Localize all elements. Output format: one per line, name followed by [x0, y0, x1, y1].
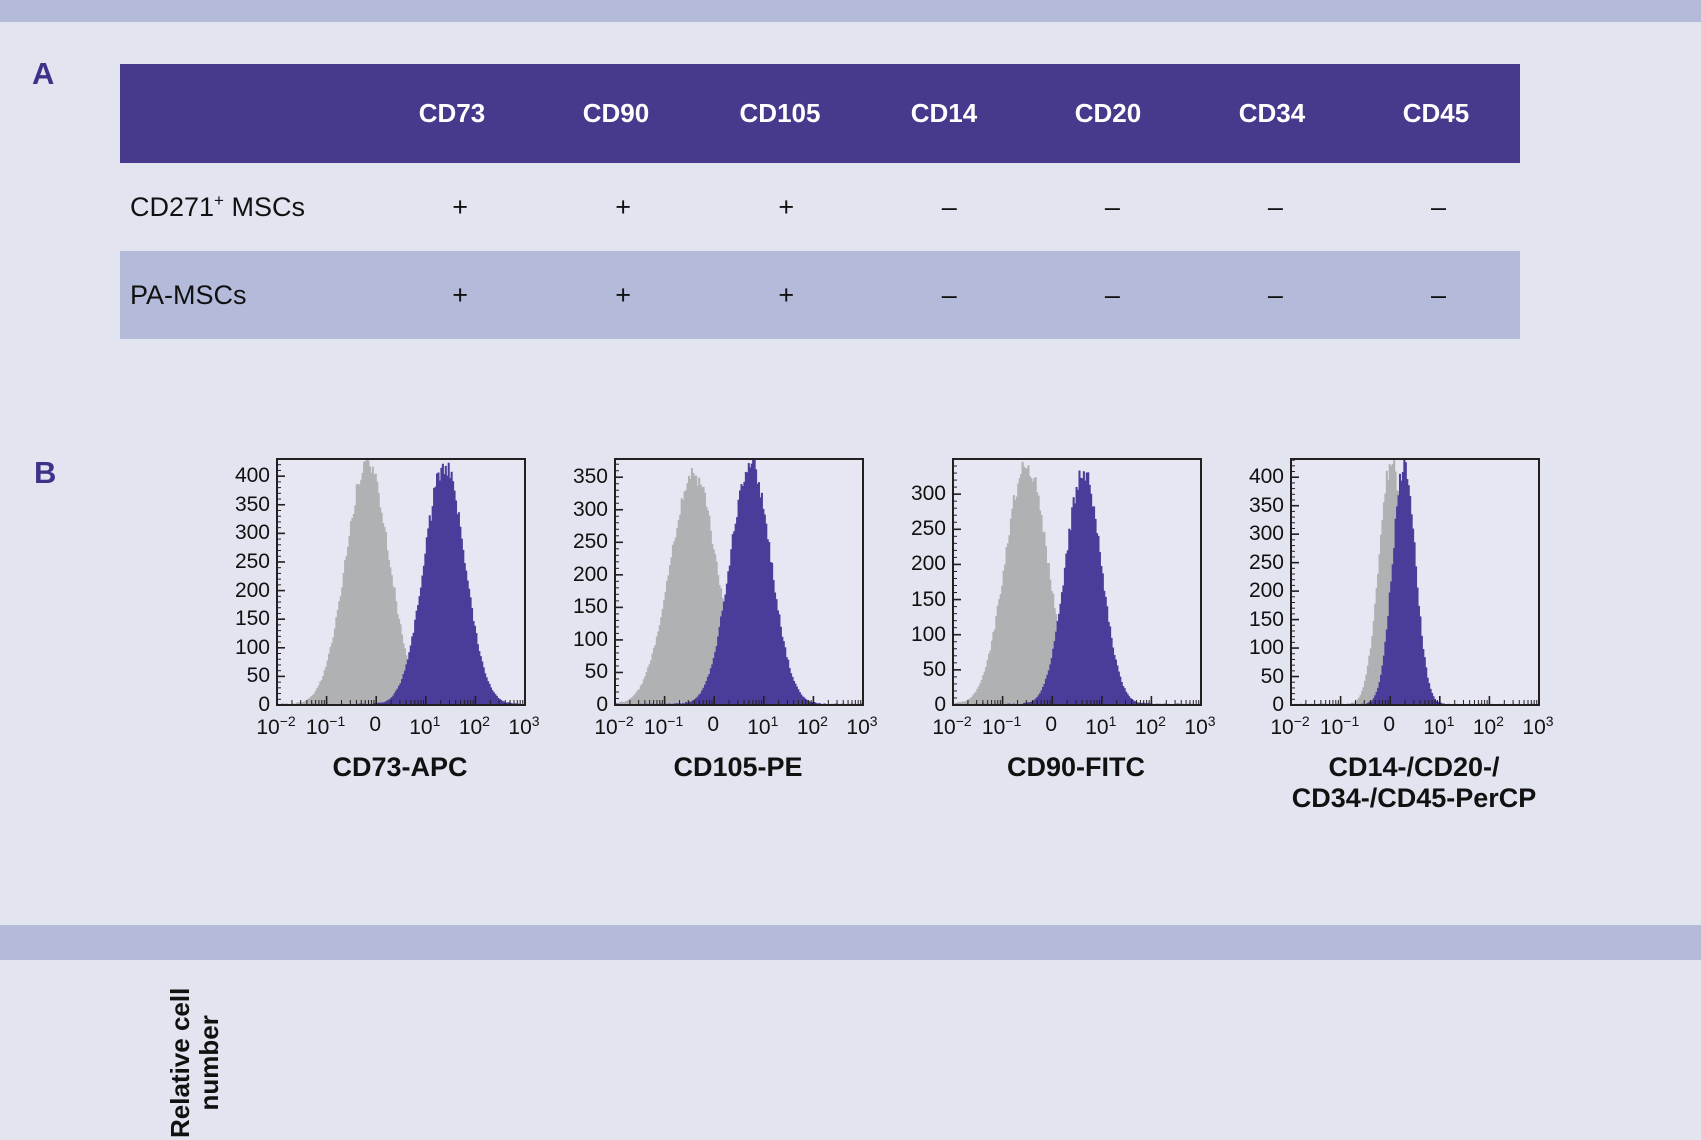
- x-tick-label: 102: [459, 714, 490, 738]
- x-tick-label: 102: [1135, 714, 1166, 738]
- y-tick-label: 350: [573, 466, 608, 487]
- y-tick-label: 300: [1249, 523, 1284, 544]
- table-cell-cd45: –: [1357, 280, 1520, 311]
- y-tick-label: 100: [235, 637, 270, 658]
- histogram-svg: [1290, 458, 1540, 706]
- plot-title-1: CD73-APC: [256, 752, 544, 783]
- y-tick-label: 300: [911, 483, 946, 504]
- table-cell-cd34: –: [1194, 192, 1357, 223]
- y-tick-label: 100: [573, 629, 608, 650]
- x-tick-label: 101: [1423, 714, 1454, 738]
- y-tick-label: 0: [596, 694, 608, 715]
- flow-cytometry-section: Relative cellnumber 05010015020025030035…: [0, 440, 1701, 910]
- y-tick-label: 250: [1249, 552, 1284, 573]
- y-tick-label: 200: [911, 553, 946, 574]
- y-tick-label: 200: [1249, 580, 1284, 601]
- table-column-header-cd105: CD105: [698, 98, 862, 129]
- table-row-label: PA-MSCs: [120, 280, 379, 311]
- table-cell-cd34: –: [1194, 280, 1357, 311]
- table-row: CD271+ MSCs+++––––: [120, 163, 1520, 251]
- y-tick-label: 50: [585, 661, 608, 682]
- flow-histogram-panel-3: 05010015020025030010−210−10101102103CD90…: [952, 458, 1200, 704]
- y-tick-label: 350: [235, 494, 270, 515]
- x-tick-label: 10−2: [594, 714, 633, 738]
- y-tick-label: 150: [1249, 609, 1284, 630]
- x-tick-label: 101: [409, 714, 440, 738]
- x-tick-label: 10−1: [982, 714, 1021, 738]
- table-cell-cd20: –: [1031, 280, 1194, 311]
- x-tick-label: 101: [1085, 714, 1116, 738]
- table-cell-cd14: –: [868, 192, 1031, 223]
- superscript-plus: +: [214, 191, 224, 210]
- y-tick-label: 150: [235, 608, 270, 629]
- table-column-header-cd14: CD14: [862, 98, 1026, 129]
- table-cell-cd105: +: [705, 192, 868, 223]
- histogram-svg: [614, 458, 864, 706]
- y-tick-label: 0: [934, 694, 946, 715]
- y-tick-labels: 050100150200250300350: [560, 458, 608, 704]
- y-tick-label: 150: [573, 596, 608, 617]
- y-tick-label: 250: [911, 518, 946, 539]
- y-tick-label: 100: [911, 624, 946, 645]
- table-cell-cd45: –: [1357, 192, 1520, 223]
- table-cell-cd20: –: [1031, 192, 1194, 223]
- y-tick-label: 200: [235, 580, 270, 601]
- plot-title-4: CD14-/CD20-/ CD34-/CD45-PerCP: [1270, 752, 1558, 814]
- flow-histogram-panel-4: 05010015020025030035040010−210−101011021…: [1290, 458, 1538, 704]
- bottom-decorative-band: [0, 925, 1701, 960]
- x-tick-label: 103: [508, 714, 539, 738]
- table-column-header-cd20: CD20: [1026, 98, 1190, 129]
- plot-title-2: CD105-PE: [594, 752, 882, 783]
- y-tick-label: 250: [573, 531, 608, 552]
- y-tick-label: 50: [1261, 666, 1284, 687]
- y-tick-label: 250: [235, 551, 270, 572]
- histogram-svg: [952, 458, 1202, 706]
- y-tick-label: 50: [247, 665, 270, 686]
- y-tick-label: 0: [1272, 694, 1284, 715]
- x-tick-label: 103: [1184, 714, 1215, 738]
- histogram-svg: [276, 458, 526, 706]
- y-tick-labels: 050100150200250300350400: [1236, 458, 1284, 704]
- x-tick-label: 103: [1522, 714, 1553, 738]
- y-axis-label: Relative cellnumber: [166, 988, 224, 1138]
- y-tick-label: 300: [573, 499, 608, 520]
- x-tick-label: 10−1: [306, 714, 345, 738]
- table-column-header-cd73: CD73: [370, 98, 534, 129]
- x-tick-label: 0: [1383, 714, 1395, 735]
- x-tick-label: 10−1: [644, 714, 683, 738]
- table-cell-cd105: +: [705, 280, 868, 311]
- table-cell-cd90: +: [542, 192, 705, 223]
- y-tick-label: 300: [235, 522, 270, 543]
- x-tick-label: 0: [369, 714, 381, 735]
- table-row: PA-MSCs+++––––: [120, 251, 1520, 339]
- plot-area: 05010015020025030010−210−10101102103CD90…: [952, 458, 1200, 704]
- table-cell-cd90: +: [542, 280, 705, 311]
- table-cell-cd73: +: [379, 280, 542, 311]
- x-tick-label: 10−2: [1270, 714, 1309, 738]
- top-decorative-band: [0, 0, 1701, 22]
- y-tick-labels: 050100150200250300: [898, 458, 946, 704]
- plot-area: 05010015020025030035010−210−10101102103C…: [614, 458, 862, 704]
- x-tick-label: 102: [797, 714, 828, 738]
- y-axis-label-wrap: Relative cellnumber: [108, 910, 168, 1140]
- x-tick-label: 10−2: [932, 714, 971, 738]
- y-tick-label: 200: [573, 564, 608, 585]
- x-tick-label: 0: [1045, 714, 1057, 735]
- plot-area: 05010015020025030035040010−210−101011021…: [276, 458, 524, 704]
- table-row-label: CD271+ MSCs: [120, 191, 379, 223]
- x-tick-label: 10−2: [256, 714, 295, 738]
- y-tick-label: 350: [1249, 495, 1284, 516]
- flow-histogram-panel-1: 05010015020025030035040010−210−101011021…: [276, 458, 524, 704]
- x-tick-label: 102: [1473, 714, 1504, 738]
- x-tick-label: 10−1: [1320, 714, 1359, 738]
- y-tick-label: 400: [235, 465, 270, 486]
- table-cell-cd73: +: [379, 192, 542, 223]
- y-tick-label: 150: [911, 589, 946, 610]
- table-header-row: CD73CD90CD105CD14CD20CD34CD45: [120, 64, 1520, 163]
- table-cell-cd14: –: [868, 280, 1031, 311]
- x-tick-label: 103: [846, 714, 877, 738]
- marker-expression-table: CD73CD90CD105CD14CD20CD34CD45 CD271+ MSC…: [120, 64, 1520, 339]
- y-tick-labels: 050100150200250300350400: [222, 458, 270, 704]
- x-tick-label: 101: [747, 714, 778, 738]
- y-tick-label: 0: [258, 694, 270, 715]
- plot-title-3: CD90-FITC: [932, 752, 1220, 783]
- flow-histogram-panel-2: 05010015020025030035010−210−10101102103C…: [614, 458, 862, 704]
- x-tick-label: 0: [707, 714, 719, 735]
- table-column-header-cd90: CD90: [534, 98, 698, 129]
- table-column-header-cd45: CD45: [1354, 98, 1518, 129]
- plot-area: 05010015020025030035040010−210−101011021…: [1290, 458, 1538, 704]
- y-tick-label: 400: [1249, 466, 1284, 487]
- table-column-header-cd34: CD34: [1190, 98, 1354, 129]
- panel-letter-a: A: [32, 56, 55, 92]
- y-tick-label: 50: [923, 659, 946, 680]
- y-tick-label: 100: [1249, 637, 1284, 658]
